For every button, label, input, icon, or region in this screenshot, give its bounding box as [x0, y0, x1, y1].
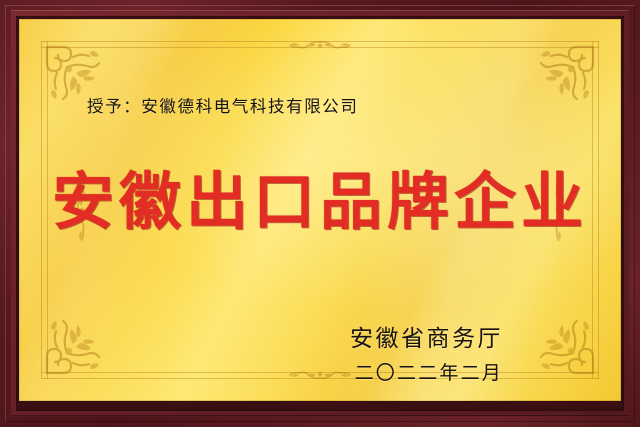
issuer-name: 安徽省商务厅	[350, 319, 503, 353]
plaque-content: 授予：安徽德科电气科技有限公司 安徽出口品牌企业 安徽省商务厅 二〇二二年二月	[19, 19, 621, 401]
page-title: 安徽出口品牌企业	[19, 171, 621, 233]
awardee-line: 授予：安徽德科电气科技有限公司	[87, 93, 359, 117]
gold-plate: 授予：安徽德科电气科技有限公司 安徽出口品牌企业 安徽省商务厅 二〇二二年二月	[19, 19, 621, 401]
award-plaque: 授予：安徽德科电气科技有限公司 安徽出口品牌企业 安徽省商务厅 二〇二二年二月	[0, 0, 640, 427]
issue-date: 二〇二二年二月	[355, 358, 503, 385]
